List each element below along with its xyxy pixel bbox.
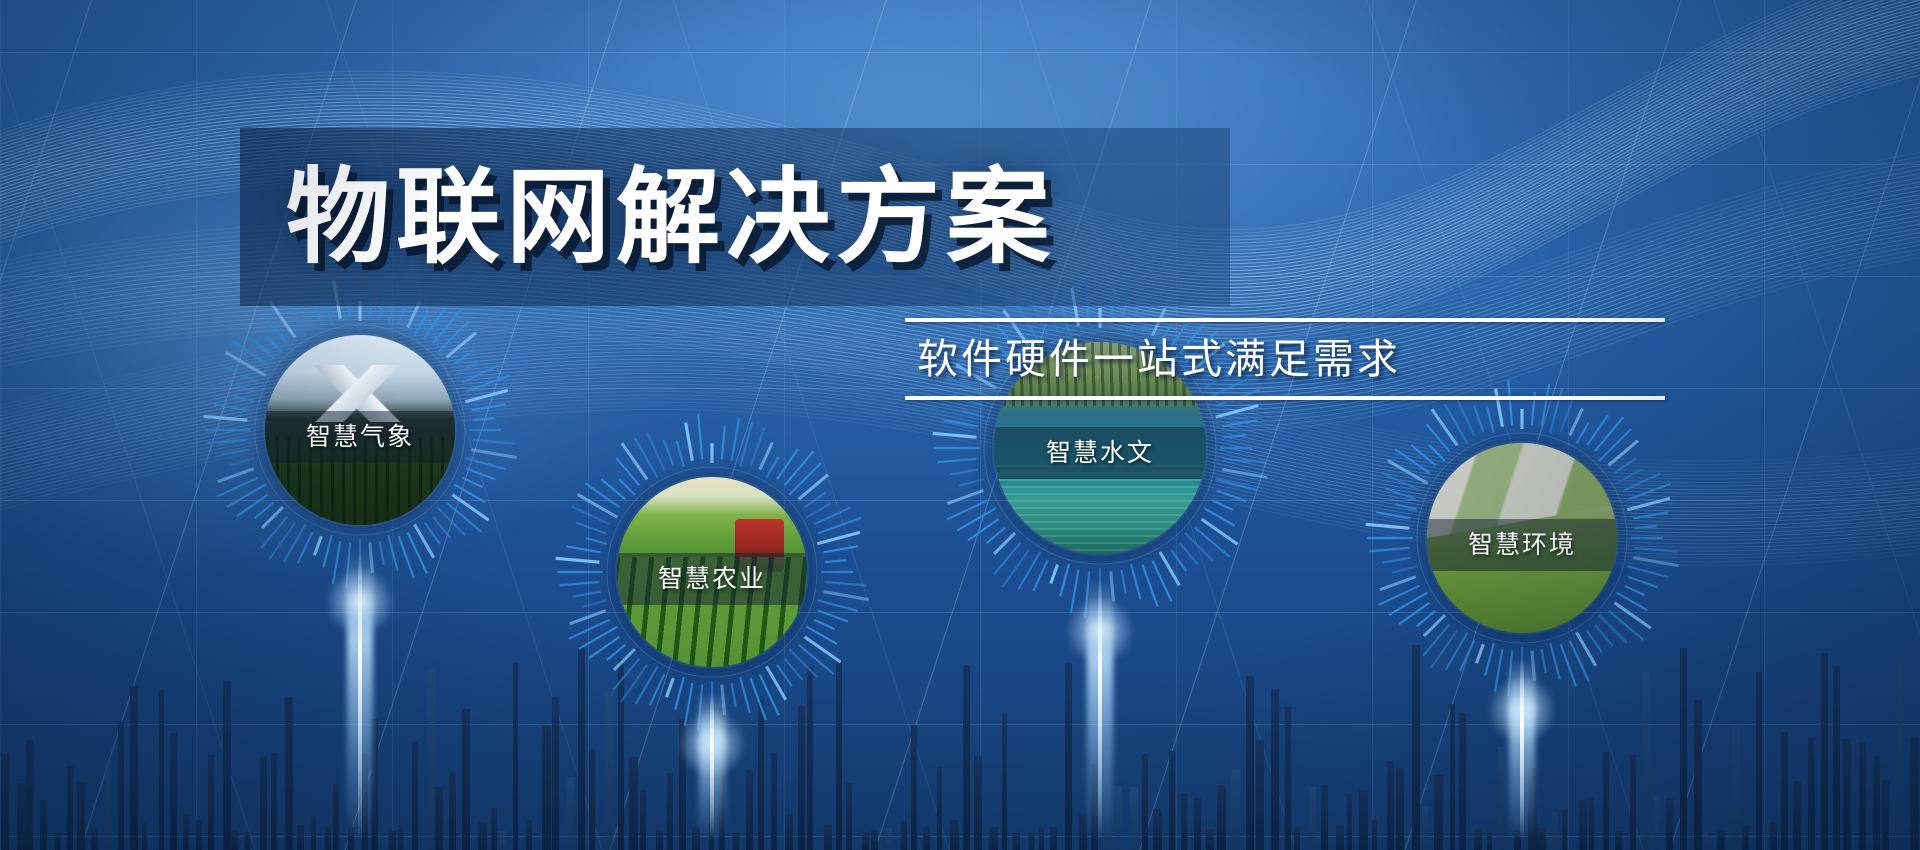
iot-solution-banner: 智慧气象智慧农业智慧水文智慧环境 物联网解决方案 软件硬件一站式满足需求 [0, 0, 1920, 850]
light-beam-core-weather [358, 551, 362, 840]
light-beam-core-environment [1520, 659, 1524, 840]
light-beam-core-agriculture [710, 693, 714, 840]
vignette-overlay [0, 0, 1920, 850]
light-beam-core-hydrology [1098, 580, 1102, 840]
